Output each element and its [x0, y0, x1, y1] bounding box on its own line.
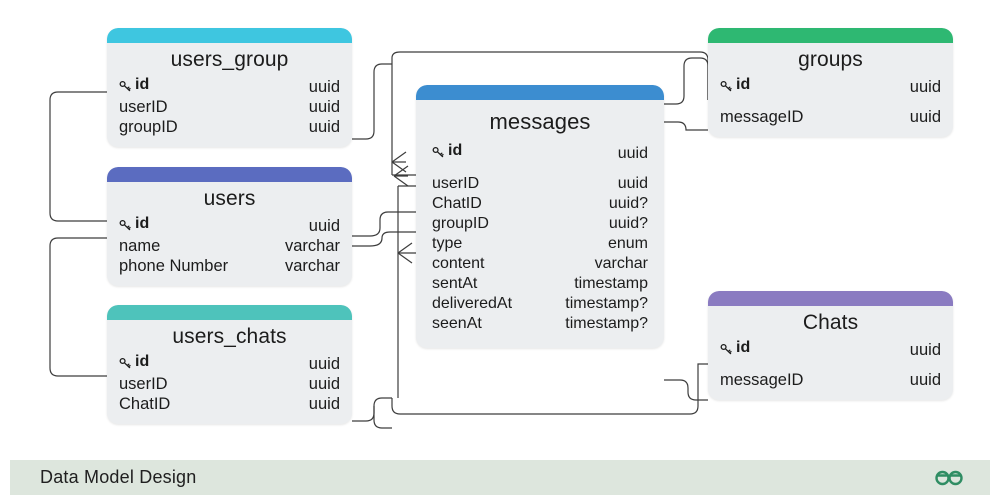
field-name-wrapper: groupID: [432, 214, 489, 234]
field-row: userID uuid: [432, 174, 648, 194]
field-row: name varchar: [119, 236, 340, 256]
field-type: varchar: [595, 254, 648, 274]
field-name-wrapper: id: [119, 352, 149, 372]
field-row: sentAt timestamp: [432, 274, 648, 294]
field-row: userID uuid: [119, 374, 340, 394]
field-type: uuid?: [609, 194, 648, 214]
field-name-wrapper: messageID: [720, 370, 803, 390]
field-row: userID uuid: [119, 97, 340, 117]
field-type: uuid: [910, 107, 941, 127]
field-row: id uuid: [119, 214, 340, 236]
field-name: sentAt: [432, 274, 477, 294]
field-list-chats: id uuid messageID uuid: [708, 338, 953, 400]
field-list-groups: id uuid messageID uuid: [708, 75, 953, 137]
field-row: groupID uuid?: [432, 214, 648, 234]
primary-key-icon: [119, 80, 132, 93]
entity-users_group[interactable]: users_group id uuid userID uuid gr: [107, 28, 352, 147]
entity-header-users: [107, 167, 352, 182]
entity-header-users_chats: [107, 305, 352, 320]
field-name: userID: [119, 374, 168, 394]
entity-chats[interactable]: Chats id uuid messageID uuid: [708, 291, 953, 400]
field-type: timestamp?: [565, 294, 648, 314]
field-type: varchar: [285, 236, 340, 256]
field-name-wrapper: id: [720, 338, 750, 358]
field-name: userID: [119, 97, 168, 117]
field-type: uuid: [910, 370, 941, 390]
field-name-wrapper: messageID: [720, 107, 803, 127]
field-list-users_group: id uuid userID uuid groupID uuid: [107, 75, 352, 147]
entity-header-groups: [708, 28, 953, 43]
primary-key-icon: [119, 219, 132, 232]
field-name-wrapper: sentAt: [432, 274, 477, 294]
field-name: groupID: [119, 117, 178, 137]
field-name-wrapper: id: [720, 75, 750, 95]
field-name-wrapper: groupID: [119, 117, 178, 137]
field-row: content varchar: [432, 254, 648, 274]
field-name: type: [432, 234, 462, 254]
entity-title-messages: messages: [416, 100, 664, 141]
field-name: seenAt: [432, 314, 482, 334]
field-row: ChatID uuid: [119, 394, 340, 414]
field-row: ChatID uuid?: [432, 194, 648, 214]
field-name: id: [736, 75, 750, 95]
field-type: uuid: [309, 216, 340, 236]
field-name-wrapper: userID: [119, 97, 168, 117]
primary-key-icon: [432, 146, 445, 159]
field-name-wrapper: userID: [432, 174, 479, 194]
entity-title-users: users: [107, 182, 352, 214]
field-name-wrapper: content: [432, 254, 484, 274]
field-type: uuid: [309, 77, 340, 97]
field-type: timestamp?: [565, 314, 648, 334]
field-row: groupID uuid: [119, 117, 340, 137]
field-row: type enum: [432, 234, 648, 254]
field-name-wrapper: phone Number: [119, 256, 228, 276]
field-row: messageID uuid: [720, 370, 941, 390]
field-type: uuid: [309, 97, 340, 117]
field-name: id: [448, 141, 462, 161]
footer-title: Data Model Design: [40, 467, 196, 488]
field-type: uuid: [910, 340, 941, 360]
field-name: content: [432, 254, 484, 274]
field-name-wrapper: seenAt: [432, 314, 482, 334]
field-name-wrapper: type: [432, 234, 462, 254]
field-name: userID: [432, 174, 479, 194]
entity-title-chats: Chats: [708, 306, 953, 338]
entity-messages[interactable]: messages id uuid userID uuid ChatID uuid…: [416, 85, 664, 348]
field-name: ChatID: [432, 194, 482, 214]
field-name-wrapper: id: [119, 214, 149, 234]
field-name-wrapper: id: [432, 141, 462, 161]
primary-key-icon: [720, 80, 733, 93]
primary-key-icon: [720, 343, 733, 356]
field-name-wrapper: ChatID: [119, 394, 170, 414]
field-name: messageID: [720, 107, 803, 127]
field-type: uuid: [618, 144, 648, 164]
footer: Data Model Design: [0, 455, 1000, 500]
field-type: varchar: [285, 256, 340, 276]
entity-users_chats[interactable]: users_chats id uuid userID uuid Ch: [107, 305, 352, 424]
field-type: uuid: [309, 117, 340, 137]
field-name: id: [135, 352, 149, 372]
field-name: deliveredAt: [432, 294, 512, 314]
entity-header-chats: [708, 291, 953, 306]
field-type: uuid: [309, 354, 340, 374]
field-name: id: [135, 214, 149, 234]
field-row: id uuid: [119, 352, 340, 374]
field-row: id uuid: [720, 338, 941, 360]
footer-bar: Data Model Design: [10, 460, 990, 495]
field-name-wrapper: ChatID: [432, 194, 482, 214]
entity-users[interactable]: users id uuid name varchar phone N: [107, 167, 352, 286]
field-row: messageID uuid: [720, 107, 941, 127]
field-list-users_chats: id uuid userID uuid ChatID uuid: [107, 352, 352, 424]
field-name: groupID: [432, 214, 489, 234]
field-type: enum: [608, 234, 648, 254]
field-row: id uuid: [432, 141, 648, 164]
field-name: name: [119, 236, 160, 256]
geeksforgeeks-logo: [932, 467, 966, 489]
field-type: uuid?: [609, 214, 648, 234]
field-type: uuid: [309, 374, 340, 394]
field-name: messageID: [720, 370, 803, 390]
entity-title-groups: groups: [708, 43, 953, 75]
field-name-wrapper: deliveredAt: [432, 294, 512, 314]
entity-groups[interactable]: groups id uuid messageID uuid: [708, 28, 953, 137]
field-name-wrapper: userID: [119, 374, 168, 394]
field-row: phone Number varchar: [119, 256, 340, 276]
primary-key-icon: [119, 357, 132, 370]
field-name-wrapper: name: [119, 236, 160, 256]
entity-title-users_group: users_group: [107, 43, 352, 75]
entity-header-messages: [416, 85, 664, 100]
field-name: phone Number: [119, 256, 228, 276]
field-row: id uuid: [720, 75, 941, 97]
field-type: uuid: [910, 77, 941, 97]
field-name: ChatID: [119, 394, 170, 414]
field-name: id: [135, 75, 149, 95]
field-name-wrapper: id: [119, 75, 149, 95]
entity-title-users_chats: users_chats: [107, 320, 352, 352]
field-row: id uuid: [119, 75, 340, 97]
diagram-canvas: users_group id uuid userID uuid gr: [0, 0, 1000, 455]
field-row: seenAt timestamp?: [432, 314, 648, 334]
field-type: uuid: [618, 174, 648, 194]
entity-header-users_group: [107, 28, 352, 43]
field-list-users: id uuid name varchar phone Number varcha…: [107, 214, 352, 286]
field-type: uuid: [309, 394, 340, 414]
field-name: id: [736, 338, 750, 358]
field-type: timestamp: [574, 274, 648, 294]
field-row: deliveredAt timestamp?: [432, 294, 648, 314]
field-list-messages: id uuid userID uuid ChatID uuid? groupID…: [416, 141, 664, 348]
